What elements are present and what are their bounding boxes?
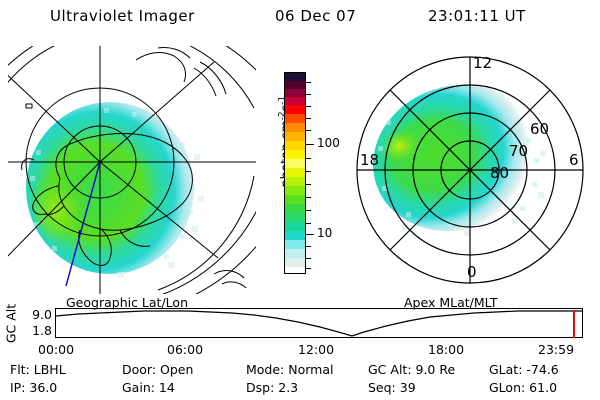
status-filter: Flt: LBHL (10, 362, 66, 377)
status-glon: GLon: 61.0 (489, 380, 557, 395)
mlt-label-12: 12 (473, 54, 492, 72)
time-tick-0600: 06:00 (167, 342, 203, 357)
observation-time: 23:01:11 UT (428, 7, 526, 25)
altitude-tick-max: 9.0 (32, 307, 52, 322)
status-ip: IP: 36.0 (10, 380, 57, 395)
geographic-projection-svg (8, 46, 256, 294)
altitude-tick-min: 1.8 (32, 323, 52, 338)
status-dsp: Dsp: 2.3 (246, 380, 298, 395)
colorbar-tick-label-10: 10 (317, 227, 332, 239)
status-door: Door: Open (122, 362, 193, 377)
header-bar: Ultraviolet Imager 06 Dec 07 23:01:11 UT (0, 4, 600, 30)
colorbar-tick-label-100: 100 (317, 137, 340, 149)
status-gain: Gain: 14 (122, 380, 175, 395)
apex-dial-panel[interactable]: 12 18 6 0 60 70 80 (344, 46, 592, 294)
current-time-marker (573, 310, 575, 338)
status-gc-alt: GC Alt: 9.0 Re (368, 362, 455, 377)
status-panel: Flt: LBHL Door: Open Mode: Normal GC Alt… (0, 362, 600, 400)
colorbar-gradient (284, 72, 306, 274)
time-axis-labels: 00:00 06:00 12:00 18:00 23:59 (0, 342, 600, 358)
altitude-tick-labels: 9.0 1.8 (14, 306, 52, 338)
mlt-label-0: 0 (467, 263, 477, 281)
instrument-title: Ultraviolet Imager (50, 7, 195, 25)
mlat-label-60: 60 (530, 120, 549, 138)
altitude-plot-box[interactable] (55, 308, 583, 338)
time-tick-1200: 12:00 (298, 342, 334, 357)
status-mode: Mode: Normal (246, 362, 333, 377)
uvi-summary-screen: Ultraviolet Imager 06 Dec 07 23:01:11 UT (0, 0, 600, 400)
apex-polar-dial-svg: 12 18 6 0 60 70 80 (344, 46, 592, 294)
mlt-label-6: 6 (569, 151, 579, 169)
altitude-curve-svg (56, 309, 582, 337)
colorbar-legend: photon cm-2s-1 100 10 (258, 72, 340, 290)
status-seq: Seq: 39 (368, 380, 416, 395)
mlt-label-18: 18 (360, 151, 379, 169)
geographic-image-panel[interactable] (8, 46, 256, 294)
mlat-label-80: 80 (490, 164, 509, 182)
gc-altitude-curve (56, 311, 582, 336)
mlat-label-70: 70 (509, 142, 528, 160)
apex-dial-grid (357, 57, 583, 283)
time-tick-0000: 00:00 (38, 342, 74, 357)
altitude-timeline[interactable]: GC Alt 9.0 1.8 (0, 308, 600, 340)
time-tick-1800: 18:00 (428, 342, 464, 357)
aurora-emission-geographic (26, 102, 204, 278)
colorbar-tick-axis: 100 10 (306, 72, 340, 274)
time-tick-2359: 23:59 (538, 342, 574, 357)
observation-date: 06 Dec 07 (275, 7, 356, 25)
status-glat: GLat: -74.6 (489, 362, 559, 377)
